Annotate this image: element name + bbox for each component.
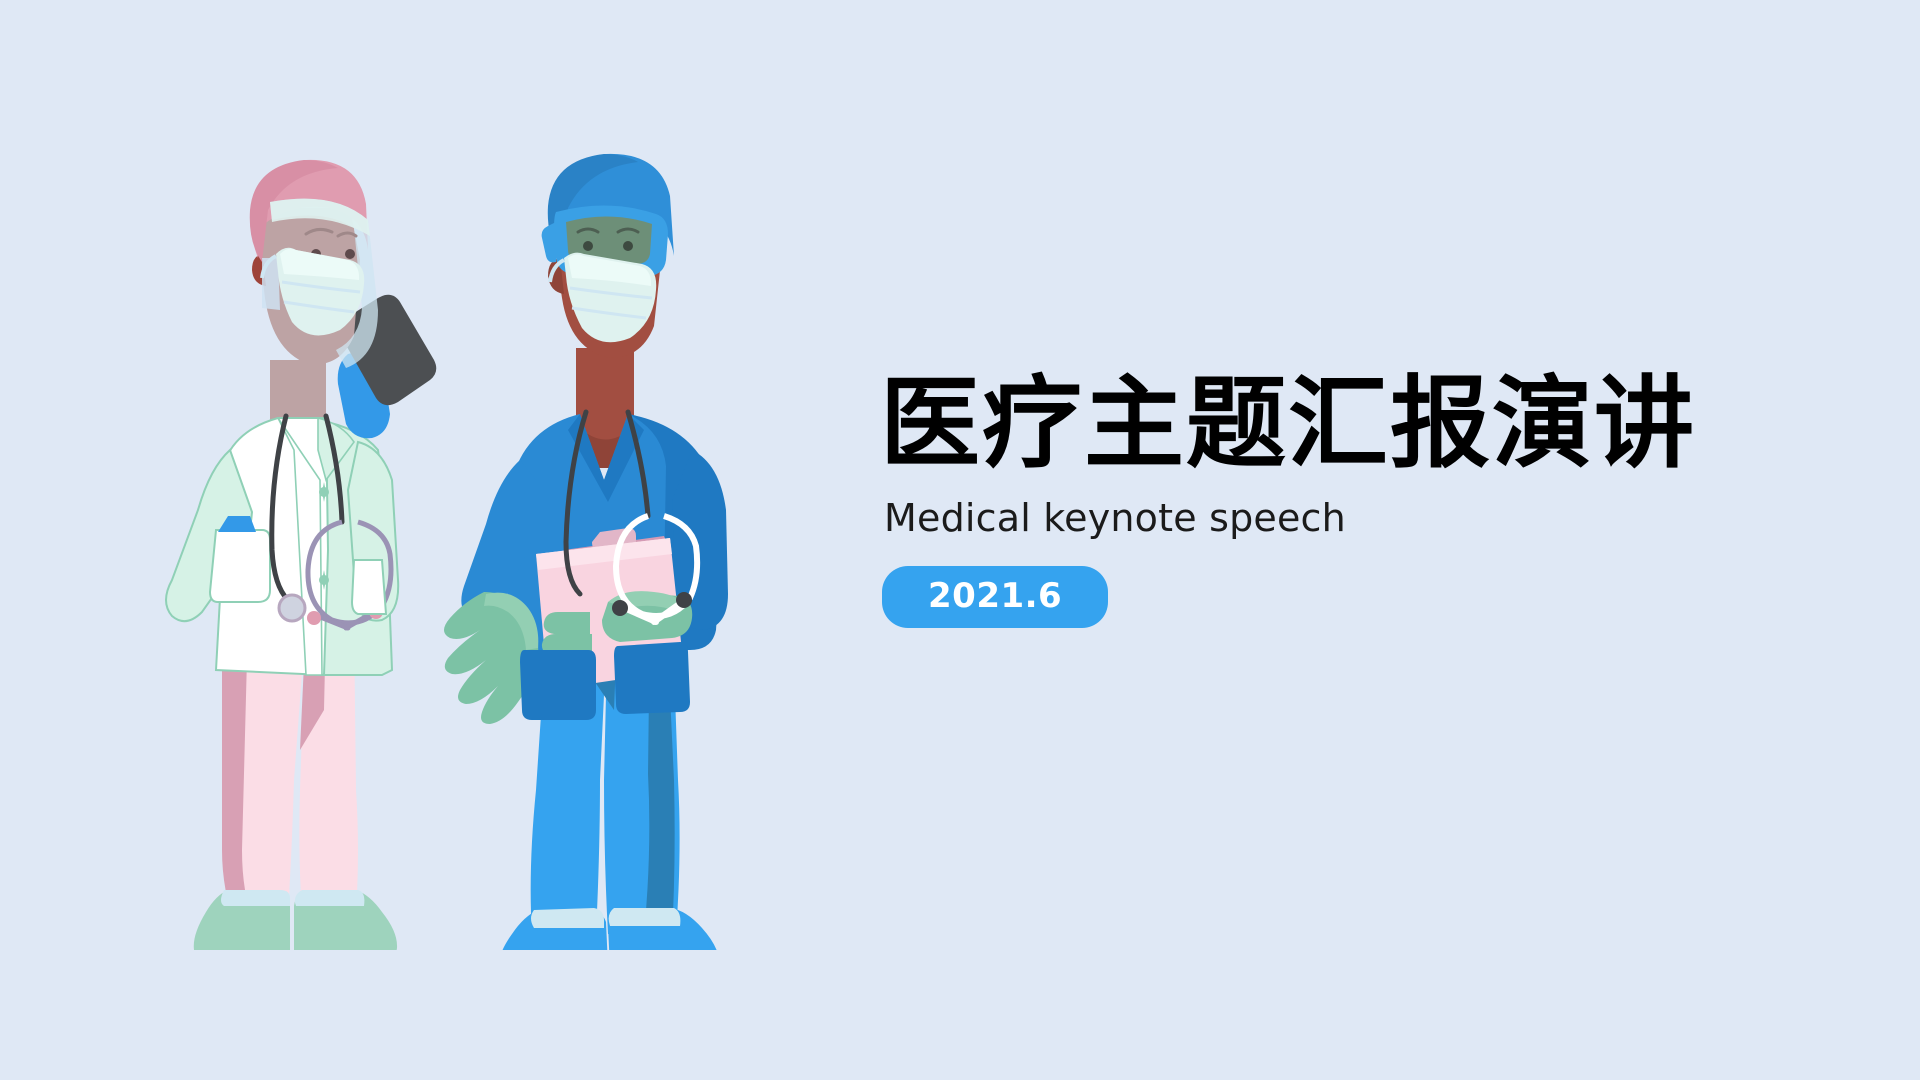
page-subtitle: Medical keynote speech [884, 496, 1840, 540]
title-text-block: 医疗主题汇报演讲 Medical keynote speech 2021.6 [880, 370, 1840, 628]
date-badge[interactable]: 2021.6 [882, 566, 1108, 628]
left-doctor-figure [166, 160, 436, 950]
two-masked-doctors-illustration [110, 150, 870, 950]
page-title: 医疗主题汇报演讲 [880, 370, 1840, 478]
presentation-slide: 医疗主题汇报演讲 Medical keynote speech 2021.6 [0, 0, 1920, 1080]
right-doctor-figure [444, 154, 728, 950]
